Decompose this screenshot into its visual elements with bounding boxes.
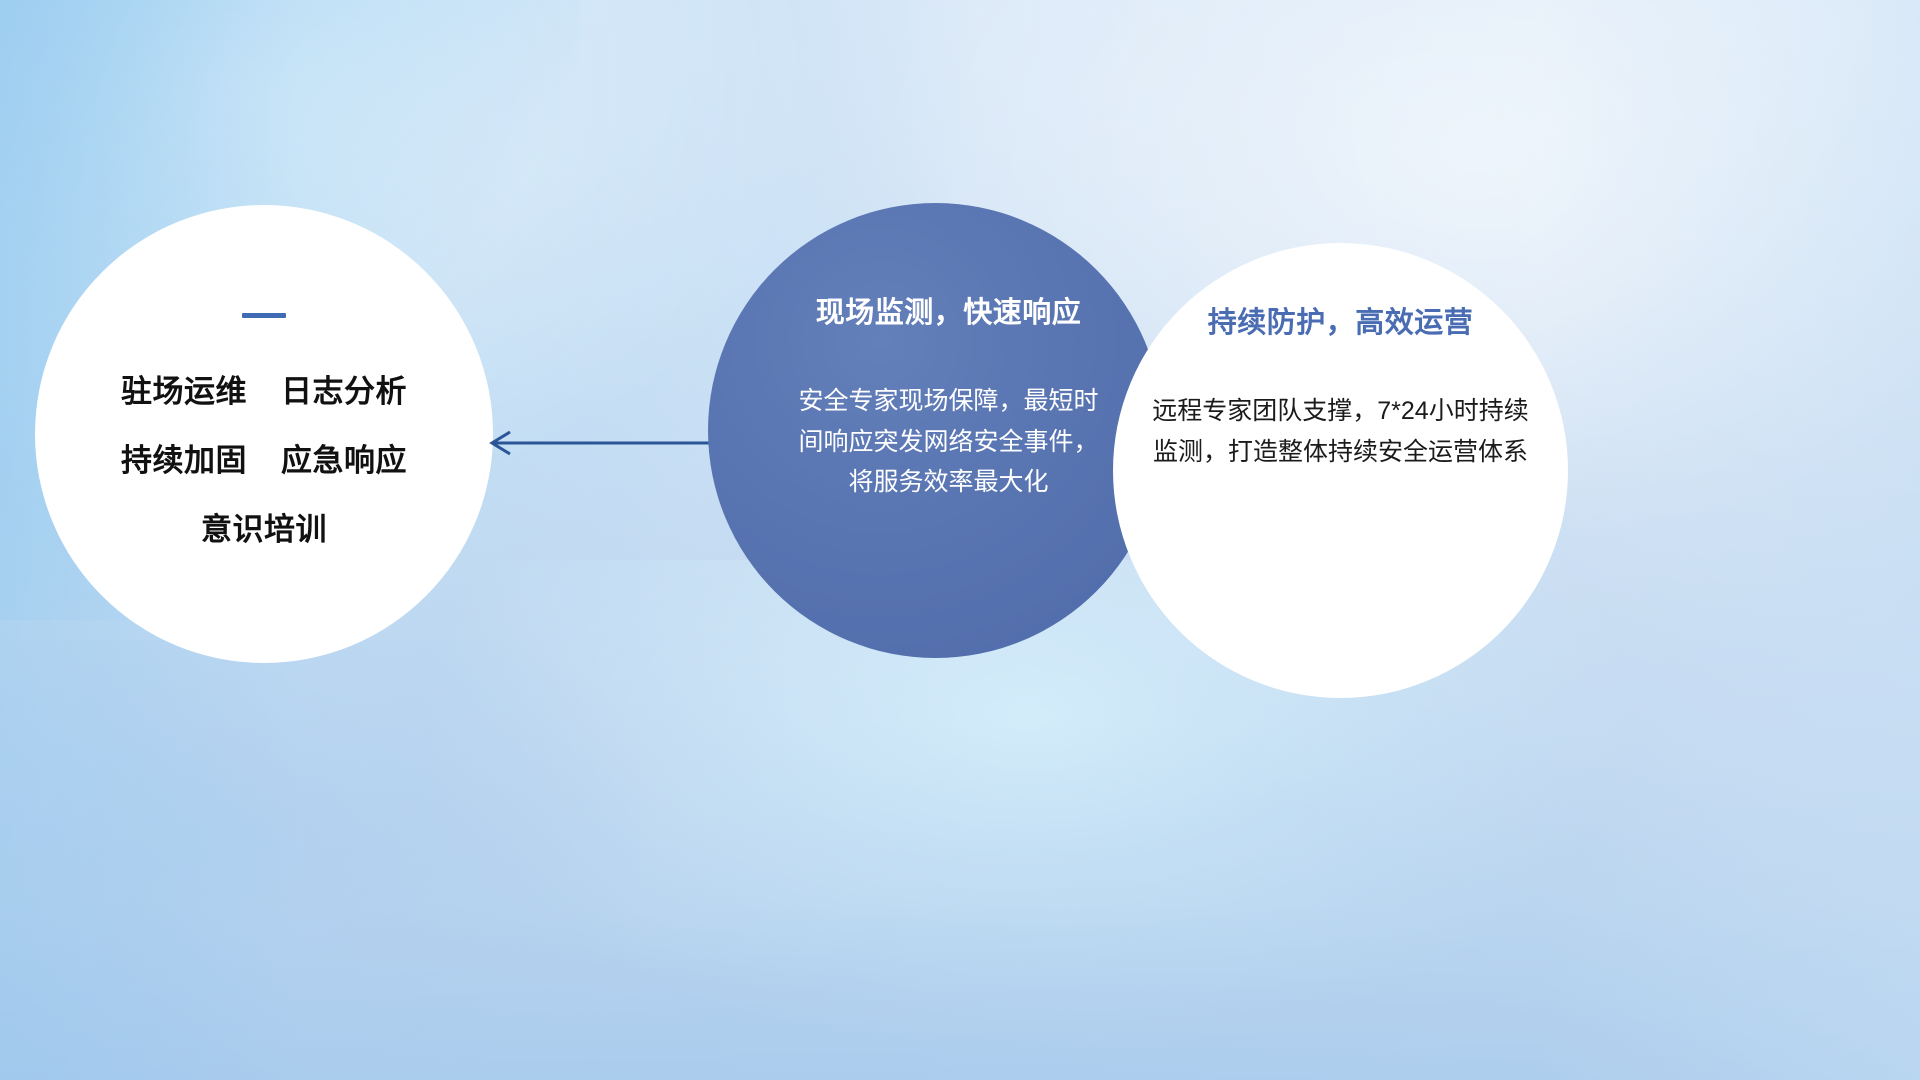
slide-canvas: 驻场运维 日志分析 持续加固 应急响应 意识培训 现场监测，快速响应 安全专家现… [0, 0, 1920, 1080]
mid-circle-content: 现场监测，快速响应 安全专家现场保障，最短时间响应突发网络安全事件，将服务效率最… [708, 203, 1163, 658]
background-edge-right [1540, 0, 1920, 1080]
right-circle-body: 远程专家团队支撑，7*24小时持续监测，打造整体持续安全运营体系 [1146, 391, 1536, 472]
right-circle-title: 持续防护，高效运营 [1208, 299, 1474, 341]
capability-item: 驻场运维 [121, 366, 247, 411]
capability-row: 意识培训 [201, 504, 327, 549]
capability-list: 驻场运维 日志分析 持续加固 应急响应 意识培训 [35, 366, 493, 549]
capability-item: 日志分析 [281, 366, 407, 411]
capability-item: 应急响应 [281, 435, 407, 480]
capability-row: 驻场运维 日志分析 [121, 366, 407, 411]
capability-row: 持续加固 应急响应 [121, 435, 407, 480]
mid-circle-title: 现场监测，快速响应 [816, 289, 1082, 331]
divider-dash [242, 313, 286, 318]
capability-item: 意识培训 [201, 504, 327, 549]
leftward-arrow-icon [480, 415, 740, 471]
mid-circle-body: 安全专家现场保障，最短时间响应突发网络安全事件，将服务效率最大化 [799, 381, 1099, 503]
right-circle-content: 持续防护，高效运营 远程专家团队支撑，7*24小时持续监测，打造整体持续安全运营… [1113, 243, 1568, 698]
left-circle-content: 驻场运维 日志分析 持续加固 应急响应 意识培训 [35, 205, 493, 663]
capability-item: 持续加固 [121, 435, 247, 480]
